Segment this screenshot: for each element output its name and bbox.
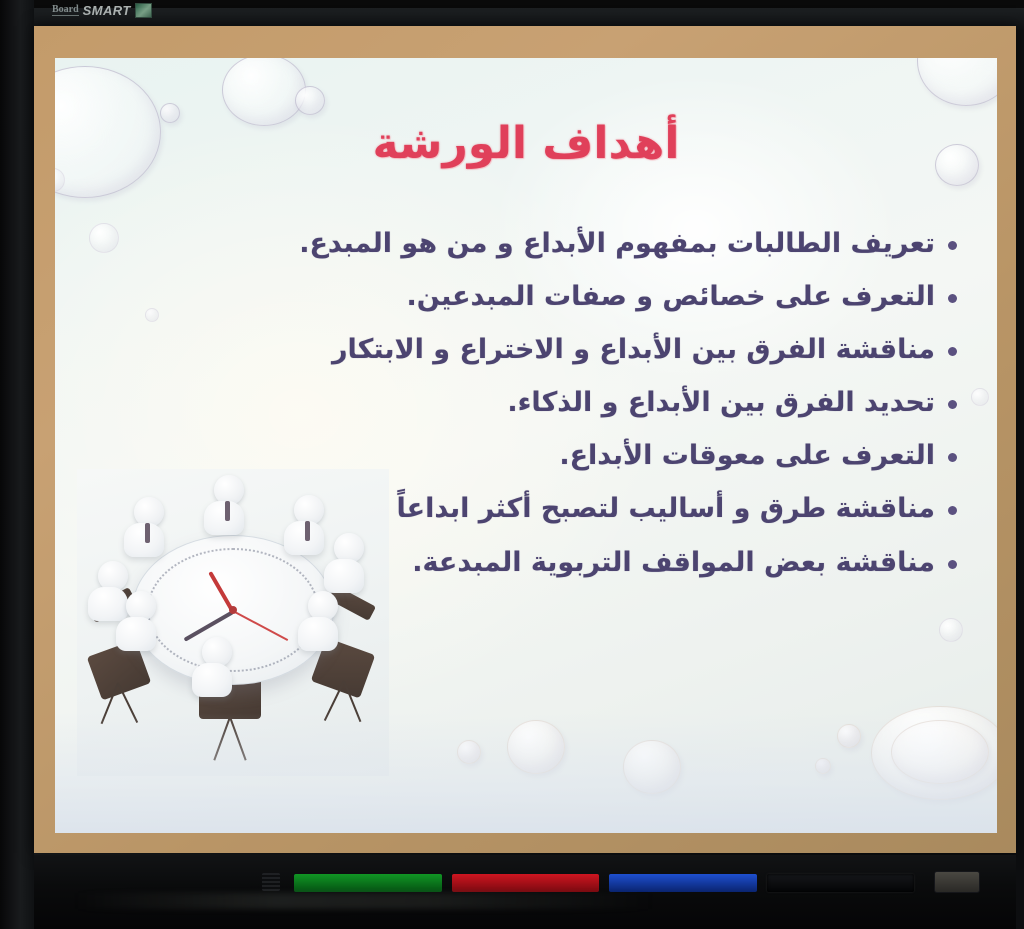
smartboard-photograph: SMART Board xyxy=(0,0,1024,929)
objective-item: تعريف الطالبات بمفهوم الأبداع و من هو ال… xyxy=(261,226,961,261)
seated-figure xyxy=(303,591,338,651)
meeting-around-clock-table-illustration xyxy=(77,469,389,776)
pen-tray[interactable] xyxy=(34,855,1016,929)
bubble-decoration xyxy=(971,388,989,406)
figure-tie xyxy=(305,521,310,541)
objective-item: مناقشة الفرق بين الأبداع و الاختراع و ال… xyxy=(261,332,961,367)
bubble-decoration xyxy=(815,758,831,774)
chair-leg xyxy=(213,717,231,761)
clock-center-pin xyxy=(229,606,237,614)
black-pen-slot[interactable] xyxy=(767,874,915,892)
speaker-grille-icon xyxy=(262,873,280,891)
red-pen-slot[interactable] xyxy=(452,874,600,892)
bubble-decoration xyxy=(939,618,963,642)
seated-figure xyxy=(197,637,232,697)
bubble-decoration xyxy=(457,740,481,764)
seated-figure xyxy=(289,495,324,555)
eraser-slot[interactable] xyxy=(934,871,980,893)
bubble-decoration xyxy=(837,724,861,748)
tray-reflection xyxy=(74,893,654,909)
figure-body xyxy=(324,559,364,593)
objective-item: تحديد الفرق بين الأبداع و الذكاء. xyxy=(261,385,961,420)
figure-body xyxy=(192,663,232,697)
bubble-decoration xyxy=(917,58,997,106)
pen-slots[interactable] xyxy=(294,873,914,893)
bubble-decoration xyxy=(295,86,325,115)
seated-figure xyxy=(329,533,364,593)
green-pen-slot[interactable] xyxy=(294,874,442,892)
figure-body xyxy=(298,617,338,651)
figure-tie xyxy=(225,501,230,521)
seated-figure xyxy=(121,591,156,651)
figure-body xyxy=(116,617,156,651)
smart-board-logo-icon xyxy=(135,3,152,18)
chair-leg xyxy=(229,717,247,761)
slide-title: أهداف الورشة xyxy=(55,118,997,169)
bubble-decoration xyxy=(891,720,989,784)
board-bezel-left xyxy=(0,0,34,929)
presentation-slide: أهداف الورشة تعريف الطالبات بمفهوم الأبد… xyxy=(55,58,997,833)
bubble-decoration xyxy=(145,308,159,322)
projection-frame: أهداف الورشة تعريف الطالبات بمفهوم الأبد… xyxy=(34,26,1016,853)
blue-pen-slot[interactable] xyxy=(609,874,757,892)
bubble-decoration xyxy=(507,720,565,774)
brand-name-board: Board xyxy=(52,4,79,16)
smart-board-logo: SMART Board xyxy=(52,1,152,19)
seated-figure xyxy=(209,475,244,535)
objective-item: التعرف على خصائص و صفات المبدعين. xyxy=(261,279,961,314)
brand-name-smart: SMART xyxy=(83,3,131,18)
bubble-decoration xyxy=(623,740,681,794)
seated-figure xyxy=(129,497,164,557)
bubble-decoration xyxy=(222,58,306,126)
bubble-decoration xyxy=(89,223,119,253)
figure-tie xyxy=(145,523,150,543)
